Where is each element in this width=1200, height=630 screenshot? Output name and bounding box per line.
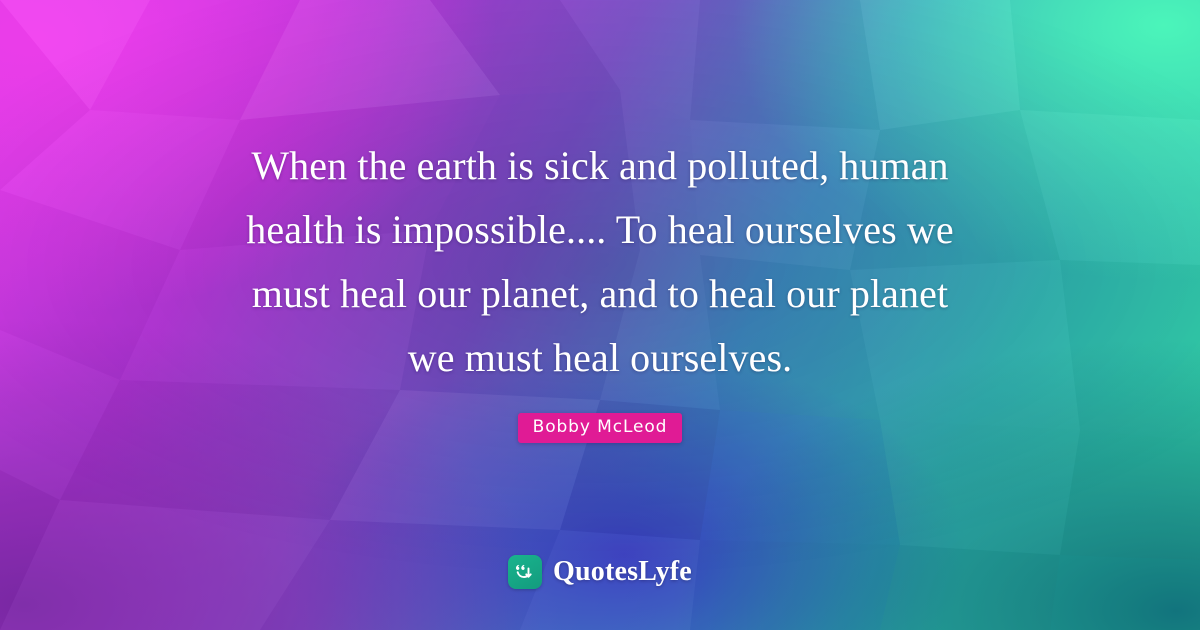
quote-text: When the earth is sick and polluted, hum…	[160, 134, 1040, 390]
quote-line: we must heal ourselves.	[160, 326, 1040, 390]
quote-line: health is impossible.... To heal ourselv…	[160, 198, 1040, 262]
quote-line: When the earth is sick and polluted, hum…	[160, 134, 1040, 198]
quote-line: must heal our planet, and to heal our pl…	[160, 262, 1040, 326]
quote-card: When the earth is sick and polluted, hum…	[0, 0, 1200, 630]
author-badge[interactable]: Bobby McLeod	[518, 413, 683, 443]
brand-wordmark: QuotesLyfe	[553, 556, 692, 588]
brand-logo[interactable]: QuotesLyfe	[0, 555, 1200, 589]
card-content: When the earth is sick and polluted, hum…	[0, 0, 1200, 630]
quote-mark-icon	[508, 555, 542, 589]
